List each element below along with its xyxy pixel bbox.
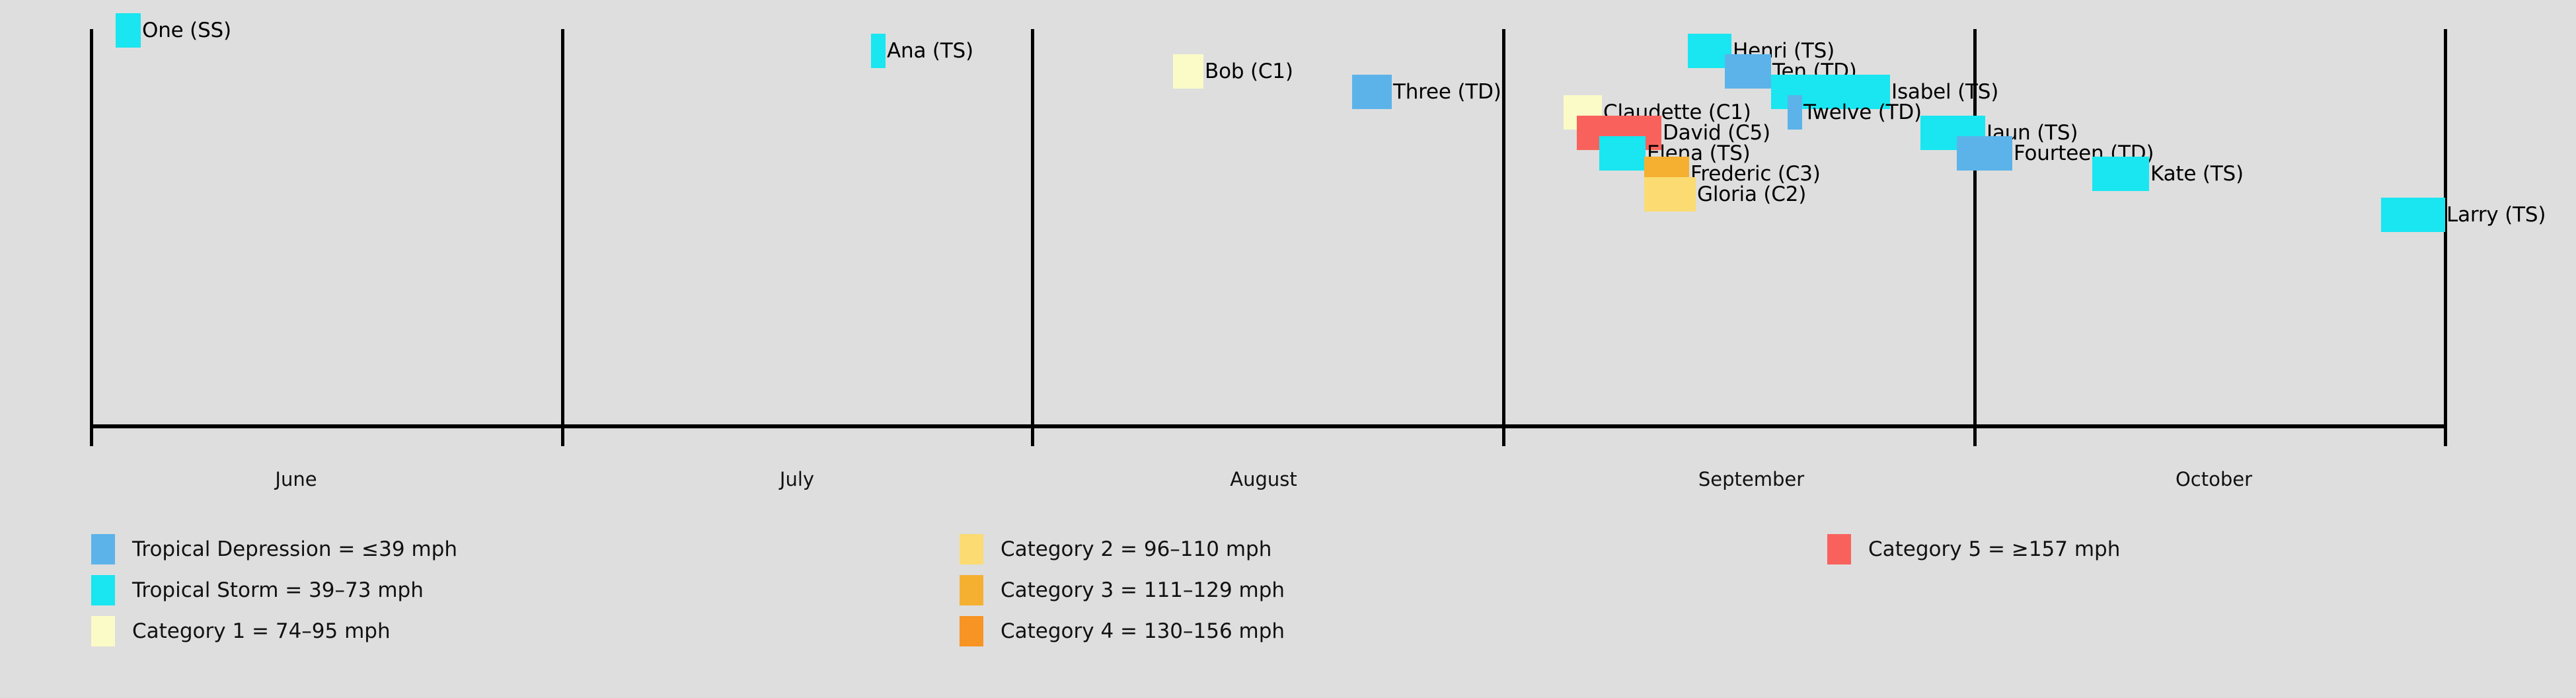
legend-swatch-category-4 bbox=[960, 616, 983, 646]
legend-label-category-5: Category 5 = ≥157 mph bbox=[1851, 537, 2120, 561]
legend-label-category-1: Category 1 = 74–95 mph bbox=[115, 619, 391, 643]
legend-swatch-tropical-storm bbox=[91, 575, 115, 605]
legend-item-category-3[interactable]: Category 3 = 111–129 mph bbox=[960, 570, 1285, 611]
month-label-july: July bbox=[698, 468, 896, 490]
gridline-3 bbox=[1502, 29, 1505, 446]
legend-label-tropical-storm: Tropical Storm = 39–73 mph bbox=[115, 578, 424, 602]
legend-item-category-1[interactable]: Category 1 = 74–95 mph bbox=[91, 611, 457, 652]
gridline-5 bbox=[2444, 29, 2447, 446]
month-label-september: September bbox=[1652, 468, 1850, 490]
storm-bar-label: Ana (TS) bbox=[886, 34, 973, 68]
gridline-0 bbox=[90, 29, 93, 446]
legend-column-2: Category 5 = ≥157 mph bbox=[1827, 529, 2120, 570]
storm-bar-row: Twelve (TD) bbox=[1788, 95, 1922, 130]
month-label-october: October bbox=[2115, 468, 2313, 490]
storm-bar-label: Twelve (TD) bbox=[1802, 95, 1922, 130]
storm-bar-label: One (SS) bbox=[141, 13, 231, 48]
storm-bar-label: Three (TD) bbox=[1392, 75, 1501, 109]
storm-bar[interactable] bbox=[1599, 136, 1646, 171]
month-label-june: June bbox=[197, 468, 395, 490]
legend-item-tropical-depression[interactable]: Tropical Depression = ≤39 mph bbox=[91, 529, 457, 570]
legend-swatch-tropical-depression bbox=[91, 534, 115, 564]
baseline-axis bbox=[91, 424, 2445, 428]
storm-bar[interactable] bbox=[1173, 54, 1203, 89]
storm-bar[interactable] bbox=[2381, 198, 2445, 232]
storm-bar-row: Bob (C1) bbox=[1173, 54, 1293, 89]
storm-bar[interactable] bbox=[1352, 75, 1392, 109]
storm-bar[interactable] bbox=[871, 34, 886, 68]
gridline-1 bbox=[561, 29, 564, 446]
storm-bar[interactable] bbox=[1788, 95, 1802, 130]
legend-label-category-2: Category 2 = 96–110 mph bbox=[983, 537, 1271, 561]
legend-column-0: Tropical Depression = ≤39 mphTropical St… bbox=[91, 529, 457, 652]
storm-bar-row: Kate (TS) bbox=[2092, 157, 2244, 191]
legend-item-category-2[interactable]: Category 2 = 96–110 mph bbox=[960, 529, 1285, 570]
storm-bar[interactable] bbox=[1644, 177, 1696, 212]
storm-bar-label: Larry (TS) bbox=[2445, 198, 2546, 232]
storm-bar-label: Gloria (C2) bbox=[1696, 177, 1806, 212]
storm-bar[interactable] bbox=[2092, 157, 2149, 191]
legend-label-tropical-depression: Tropical Depression = ≤39 mph bbox=[115, 537, 457, 561]
storm-bar[interactable] bbox=[1957, 136, 2012, 171]
month-label-august: August bbox=[1164, 468, 1363, 490]
legend-swatch-category-1 bbox=[91, 616, 115, 646]
legend-swatch-category-2 bbox=[960, 534, 983, 564]
storm-bar-row: Gloria (C2) bbox=[1644, 177, 1806, 212]
storm-bar-label: Bob (C1) bbox=[1203, 54, 1293, 89]
gridline-2 bbox=[1031, 29, 1034, 446]
storm-bar[interactable] bbox=[116, 13, 141, 48]
storm-bar-row: Larry (TS) bbox=[2381, 198, 2546, 232]
legend-label-category-3: Category 3 = 111–129 mph bbox=[983, 578, 1285, 602]
storm-bar-row: Ana (TS) bbox=[871, 34, 973, 68]
legend-item-tropical-storm[interactable]: Tropical Storm = 39–73 mph bbox=[91, 570, 457, 611]
legend-column-1: Category 2 = 96–110 mphCategory 3 = 111–… bbox=[960, 529, 1285, 652]
chart-legend: Tropical Depression = ≤39 mphTropical St… bbox=[0, 529, 2576, 694]
storm-bar-label: Kate (TS) bbox=[2149, 157, 2244, 191]
legend-swatch-category-5 bbox=[1827, 534, 1851, 564]
legend-label-category-4: Category 4 = 130–156 mph bbox=[983, 619, 1285, 643]
storm-bar-row: One (SS) bbox=[116, 13, 231, 48]
legend-item-category-5[interactable]: Category 5 = ≥157 mph bbox=[1827, 529, 2120, 570]
legend-item-category-4[interactable]: Category 4 = 130–156 mph bbox=[960, 611, 1285, 652]
storm-bar-row: Three (TD) bbox=[1352, 75, 1501, 109]
legend-swatch-category-3 bbox=[960, 575, 983, 605]
storm-bar[interactable] bbox=[1725, 54, 1771, 89]
